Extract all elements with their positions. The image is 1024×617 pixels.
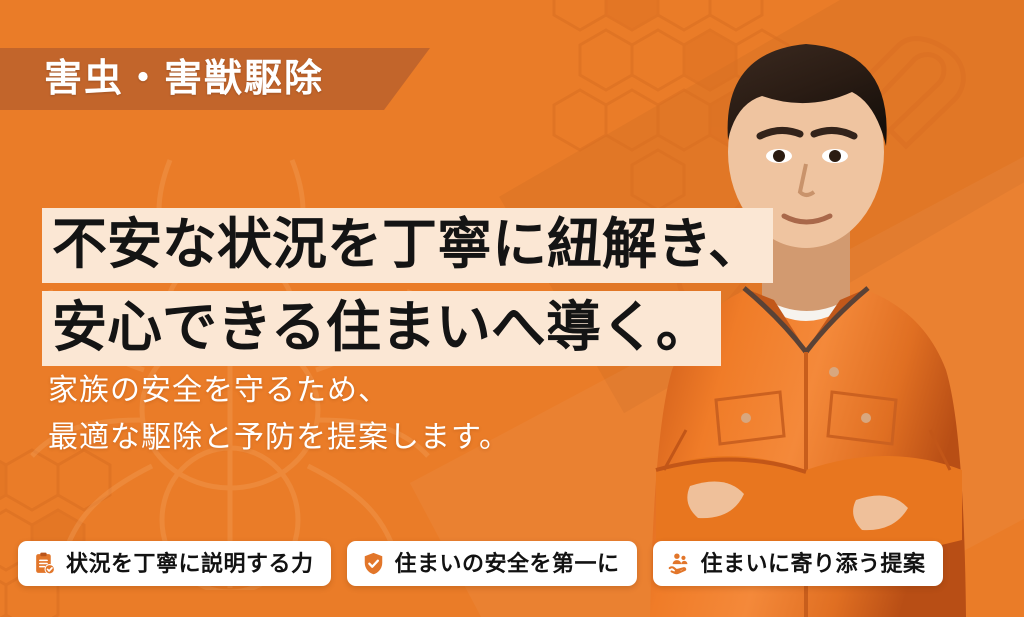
clipboard-check-icon: [32, 551, 57, 576]
badge-label: 住まいの安全を第一に: [395, 553, 620, 575]
badge-item-safety[interactable]: 住まいの安全を第一に: [347, 541, 637, 586]
badge-label: 住まいに寄り添う提案: [701, 553, 926, 575]
shield-check-icon: [361, 551, 386, 576]
ribbon-label: 害虫・害獣駆除: [44, 60, 324, 98]
hand-people-icon: [667, 551, 692, 576]
hero-banner: 害虫・害獣駆除 不安な状況を丁寧に紐解き、 安心できる住まいへ導く。 家族の安全…: [0, 0, 1024, 617]
honeycomb-pattern-left-icon: [0, 440, 200, 617]
badge-item-proposal[interactable]: 住まいに寄り添う提案: [653, 541, 943, 586]
badge-list: 状況を丁寧に説明する力 住まいの安全を第一に 住まいに寄り添う提案: [18, 541, 943, 586]
headline-line-1: 不安な状況を丁寧に紐解き、: [42, 208, 773, 283]
subtitle: 家族の安全を守るため、 最適な駆除と予防を提案します。: [48, 368, 510, 461]
category-ribbon: 害虫・害獣駆除: [0, 48, 430, 110]
subtitle-line-2: 最適な駆除と予防を提案します。: [48, 415, 510, 462]
headline-line-2: 安心できる住まいへ導く。: [42, 291, 721, 366]
headline: 不安な状況を丁寧に紐解き、 安心できる住まいへ導く。: [42, 208, 773, 366]
badge-item-explanation[interactable]: 状況を丁寧に説明する力: [18, 541, 331, 586]
subtitle-line-1: 家族の安全を守るため、: [48, 368, 510, 415]
badge-label: 状況を丁寧に説明する力: [66, 553, 314, 575]
